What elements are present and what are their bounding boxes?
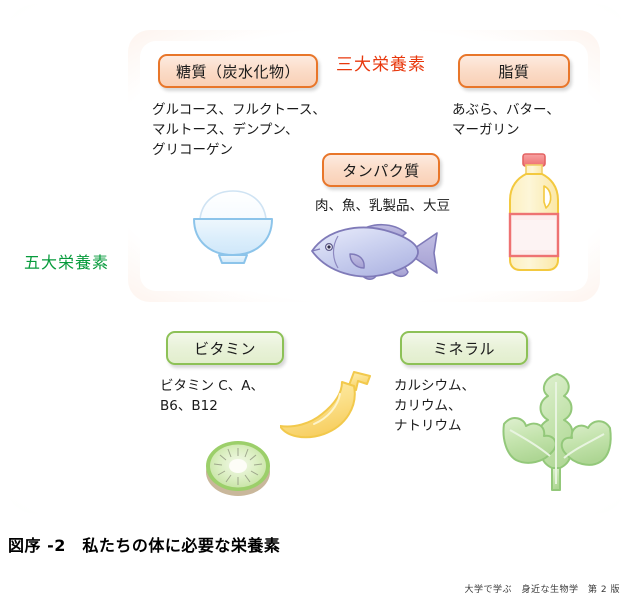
oil-bottle-icon <box>498 152 570 280</box>
figure-caption: 図序 -2 私たちの体に必要な栄養素 <box>8 532 280 556</box>
leafy-vegetable-icon <box>502 368 614 494</box>
nutrient-label-mineral: ミネラル <box>400 331 528 365</box>
fish-icon <box>302 216 442 290</box>
banana-icon <box>280 368 384 444</box>
nutrient-examples-protein: 肉、魚、乳製品、大豆 <box>315 196 505 216</box>
nutrient-label-carbohydrate: 糖質（炭水化物） <box>158 54 318 88</box>
nutrient-label-fat: 脂質 <box>458 54 570 88</box>
three-major-nutrients-heading: 三大栄養素 <box>336 50 426 75</box>
book-footer-text: 大学で学ぶ 身近な生物学 第 2 版 <box>465 582 620 595</box>
rice-bowl-icon <box>178 183 288 267</box>
nutrient-label-vitamin: ビタミン <box>166 331 284 365</box>
kiwi-slice-icon <box>196 434 280 502</box>
nutrient-examples-fat: あぶら、バター、 マーガリン <box>452 100 612 140</box>
nutrient-examples-carbohydrate: グルコース、フルクトース、 マルトース、デンプン、 グリコーゲン <box>152 100 372 160</box>
five-major-nutrients-heading: 五大栄養素 <box>24 249 109 273</box>
